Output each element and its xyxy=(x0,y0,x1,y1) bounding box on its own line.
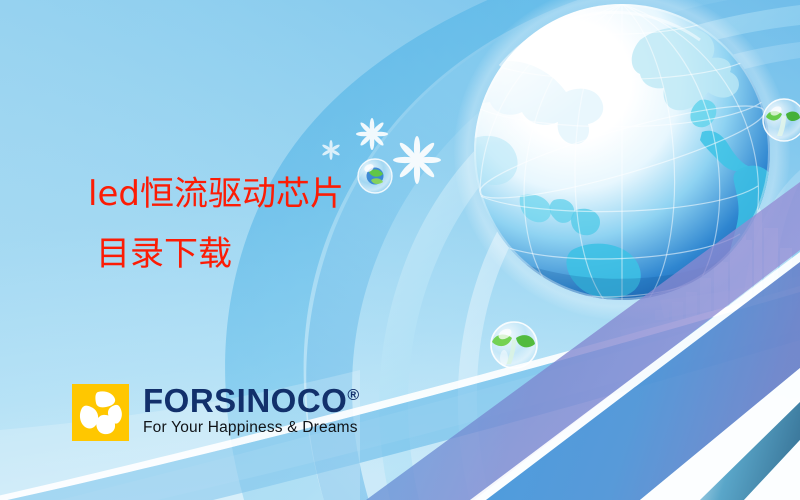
forsinoco-logo[interactable]: FORSINOCO® For Your Happiness & Dreams xyxy=(72,384,360,441)
sparkle-small xyxy=(356,118,388,150)
logo-text-block: FORSINOCO® For Your Happiness & Dreams xyxy=(143,384,360,436)
forsinoco-flower-mark xyxy=(72,384,129,441)
brand-wordmark: FORSINOCO® xyxy=(143,384,360,418)
brand-name: FORSINOCO xyxy=(143,382,347,419)
registered-trademark-icon: ® xyxy=(347,387,359,404)
bubble-edge-icon xyxy=(763,99,800,141)
bubble-globe-icon xyxy=(358,159,392,193)
headline-line-1: led恒流驱动芯片 xyxy=(88,166,344,215)
promo-banner: led恒流驱动芯片 目录下载 FORSINOCO® For Your Happi… xyxy=(0,0,800,500)
sparkle-large xyxy=(393,136,441,184)
brand-tagline: For Your Happiness & Dreams xyxy=(143,419,360,436)
headline-line-2: 目录下载 xyxy=(96,226,232,275)
bubble-leaf-icon xyxy=(491,322,537,368)
